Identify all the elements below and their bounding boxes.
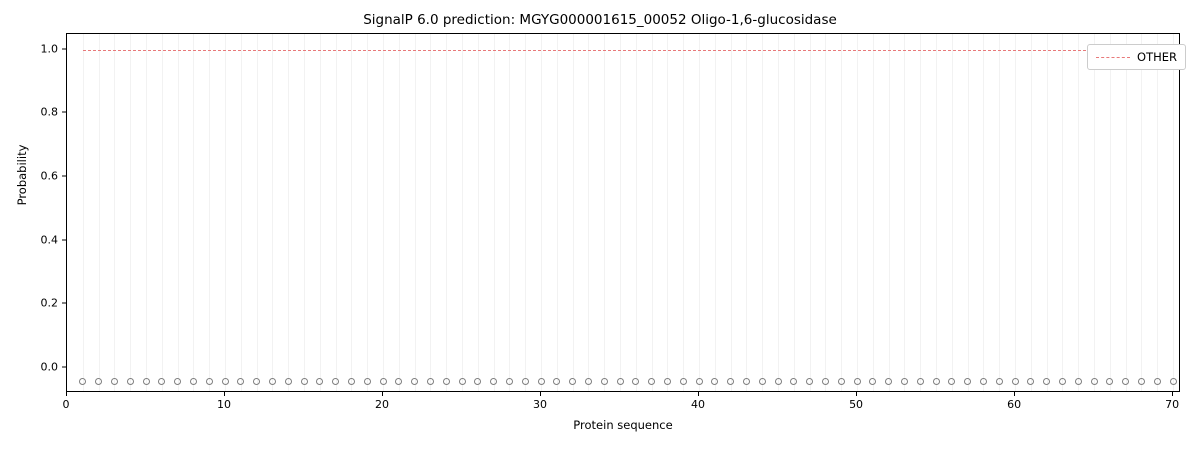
residue-marker <box>1043 378 1050 385</box>
residue-marker <box>775 378 782 385</box>
residue-marker <box>522 378 529 385</box>
gridline <box>383 34 384 391</box>
gridline <box>288 34 289 391</box>
residue-marker <box>964 378 971 385</box>
gridline <box>999 34 1000 391</box>
residue-marker <box>996 378 1003 385</box>
gridline <box>936 34 937 391</box>
gridline <box>1157 34 1158 391</box>
gridline <box>1110 34 1111 391</box>
residue-marker <box>111 378 118 385</box>
gridline <box>351 34 352 391</box>
gridline <box>873 34 874 391</box>
residue-marker <box>237 378 244 385</box>
legend[interactable]: OTHER <box>1087 44 1186 70</box>
residue-marker <box>316 378 323 385</box>
series-line-other <box>83 50 1171 51</box>
residue-marker <box>901 378 908 385</box>
x-tick-label: 10 <box>217 398 231 411</box>
gridline <box>968 34 969 391</box>
signalp-prediction-figure: SignalP 6.0 prediction: MGYG000001615_00… <box>0 0 1200 450</box>
gridline <box>952 34 953 391</box>
residue-marker <box>648 378 655 385</box>
gridline <box>162 34 163 391</box>
gridline <box>1031 34 1032 391</box>
gridline <box>636 34 637 391</box>
residue-marker <box>269 378 276 385</box>
residue-marker <box>411 378 418 385</box>
x-tick-label: 0 <box>63 398 70 411</box>
residue-marker <box>395 378 402 385</box>
residue-marker <box>790 378 797 385</box>
legend-swatch-other-icon <box>1096 57 1130 58</box>
y-tick-label: 0.2 <box>41 297 59 310</box>
gridline <box>1126 34 1127 391</box>
gridline <box>1015 34 1016 391</box>
gridline <box>983 34 984 391</box>
gridline <box>810 34 811 391</box>
residue-marker <box>632 378 639 385</box>
x-tick-label: 60 <box>1007 398 1021 411</box>
y-tick-label: 1.0 <box>41 42 59 55</box>
gridline <box>430 34 431 391</box>
residue-marker <box>1091 378 1098 385</box>
gridline <box>509 34 510 391</box>
gridline <box>415 34 416 391</box>
x-axis-label: Protein sequence <box>66 418 1180 432</box>
x-tick-mark <box>224 392 225 396</box>
gridline <box>746 34 747 391</box>
gridline <box>699 34 700 391</box>
page-title: SignalP 6.0 prediction: MGYG000001615_00… <box>0 12 1200 28</box>
residue-marker <box>158 378 165 385</box>
residue-marker <box>190 378 197 385</box>
gridline <box>304 34 305 391</box>
gridline <box>478 34 479 391</box>
residue-marker <box>127 378 134 385</box>
legend-item-label: OTHER <box>1137 50 1177 64</box>
gridline <box>1141 34 1142 391</box>
gridline <box>146 34 147 391</box>
x-tick-label: 30 <box>533 398 547 411</box>
gridline <box>573 34 574 391</box>
x-tick-mark <box>1172 392 1173 396</box>
residue-marker <box>1012 378 1019 385</box>
gridline <box>83 34 84 391</box>
gridline <box>99 34 100 391</box>
residue-marker <box>806 378 813 385</box>
x-tick-mark <box>382 392 383 396</box>
gridline <box>920 34 921 391</box>
gridline <box>320 34 321 391</box>
residue-marker <box>759 378 766 385</box>
gridline <box>114 34 115 391</box>
gridline <box>1062 34 1063 391</box>
residue-marker <box>553 378 560 385</box>
residue-marker <box>427 378 434 385</box>
residue-marker <box>459 378 466 385</box>
residue-marker <box>1154 378 1161 385</box>
gridline <box>1094 34 1095 391</box>
residue-marker <box>869 378 876 385</box>
residue-marker <box>506 378 513 385</box>
x-tick-label: 70 <box>1165 398 1179 411</box>
gridline <box>241 34 242 391</box>
residue-marker <box>1122 378 1129 385</box>
gridline <box>683 34 684 391</box>
gridline <box>904 34 905 391</box>
gridline <box>1078 34 1079 391</box>
gridline <box>257 34 258 391</box>
residue-marker <box>680 378 687 385</box>
residue-marker <box>174 378 181 385</box>
residue-marker <box>917 378 924 385</box>
gridline <box>762 34 763 391</box>
x-tick-mark <box>540 392 541 396</box>
residue-marker <box>206 378 213 385</box>
residue-marker <box>696 378 703 385</box>
gridline <box>1047 34 1048 391</box>
gridline <box>399 34 400 391</box>
gridline <box>794 34 795 391</box>
residue-marker <box>948 378 955 385</box>
gridline <box>667 34 668 391</box>
x-tick-mark <box>1014 392 1015 396</box>
residue-marker <box>1138 378 1145 385</box>
x-tick-mark <box>856 392 857 396</box>
residue-marker <box>222 378 229 385</box>
y-tick-label: 0.4 <box>41 233 59 246</box>
y-axis-tick-labels: 0.00.20.40.60.81.0 <box>0 33 58 392</box>
residue-marker <box>854 378 861 385</box>
gridline <box>731 34 732 391</box>
gridline <box>557 34 558 391</box>
gridline <box>272 34 273 391</box>
gridline <box>130 34 131 391</box>
residue-marker <box>1027 378 1034 385</box>
gridline <box>178 34 179 391</box>
gridline <box>446 34 447 391</box>
gridline <box>225 34 226 391</box>
gridline <box>462 34 463 391</box>
residue-marker <box>664 378 671 385</box>
residue-marker <box>1106 378 1113 385</box>
gridline <box>604 34 605 391</box>
gridline <box>193 34 194 391</box>
residue-marker <box>822 378 829 385</box>
gridline <box>778 34 779 391</box>
y-tick-label: 0.8 <box>41 106 59 119</box>
residue-marker <box>1075 378 1082 385</box>
x-tick-label: 50 <box>849 398 863 411</box>
residue-marker <box>1059 378 1066 385</box>
gridline <box>209 34 210 391</box>
gridline <box>857 34 858 391</box>
residue-marker <box>380 378 387 385</box>
residue-marker <box>711 378 718 385</box>
residue-marker <box>301 378 308 385</box>
x-tick-mark <box>66 392 67 396</box>
gridline <box>525 34 526 391</box>
x-tick-label: 40 <box>691 398 705 411</box>
residue-marker <box>838 378 845 385</box>
residue-marker <box>601 378 608 385</box>
y-tick-label: 0.6 <box>41 169 59 182</box>
y-tick-label: 0.0 <box>41 360 59 373</box>
residue-marker <box>727 378 734 385</box>
gridline <box>841 34 842 391</box>
residue-marker <box>885 378 892 385</box>
gridline <box>336 34 337 391</box>
x-tick-label: 20 <box>375 398 389 411</box>
gridline <box>620 34 621 391</box>
residue-marker <box>980 378 987 385</box>
gridline <box>588 34 589 391</box>
residue-marker <box>285 378 292 385</box>
plot-area: MENKKTKWWQKAVIYQIYPRSFYDSNADGIGDLQGIIKKL… <box>66 33 1180 392</box>
residue-marker <box>538 378 545 385</box>
gridline <box>1173 34 1174 391</box>
residue-marker <box>569 378 576 385</box>
gridline <box>825 34 826 391</box>
gridline <box>889 34 890 391</box>
residue-marker <box>79 378 86 385</box>
gridline <box>367 34 368 391</box>
residue-marker <box>490 378 497 385</box>
residue-marker <box>585 378 592 385</box>
gridline <box>541 34 542 391</box>
gridline <box>494 34 495 391</box>
residue-marker <box>617 378 624 385</box>
residue-marker <box>253 378 260 385</box>
residue-marker <box>443 378 450 385</box>
residue-marker <box>348 378 355 385</box>
residue-marker <box>743 378 750 385</box>
gridline <box>652 34 653 391</box>
residue-marker <box>364 378 371 385</box>
plot-inner: MENKKTKWWQKAVIYQIYPRSFYDSNADGIGDLQGIIKKL… <box>67 34 1179 391</box>
residue-marker <box>143 378 150 385</box>
residue-marker <box>332 378 339 385</box>
residue-marker <box>933 378 940 385</box>
residue-marker <box>95 378 102 385</box>
residue-marker <box>474 378 481 385</box>
x-tick-mark <box>698 392 699 396</box>
gridline <box>715 34 716 391</box>
residue-marker <box>1170 378 1177 385</box>
